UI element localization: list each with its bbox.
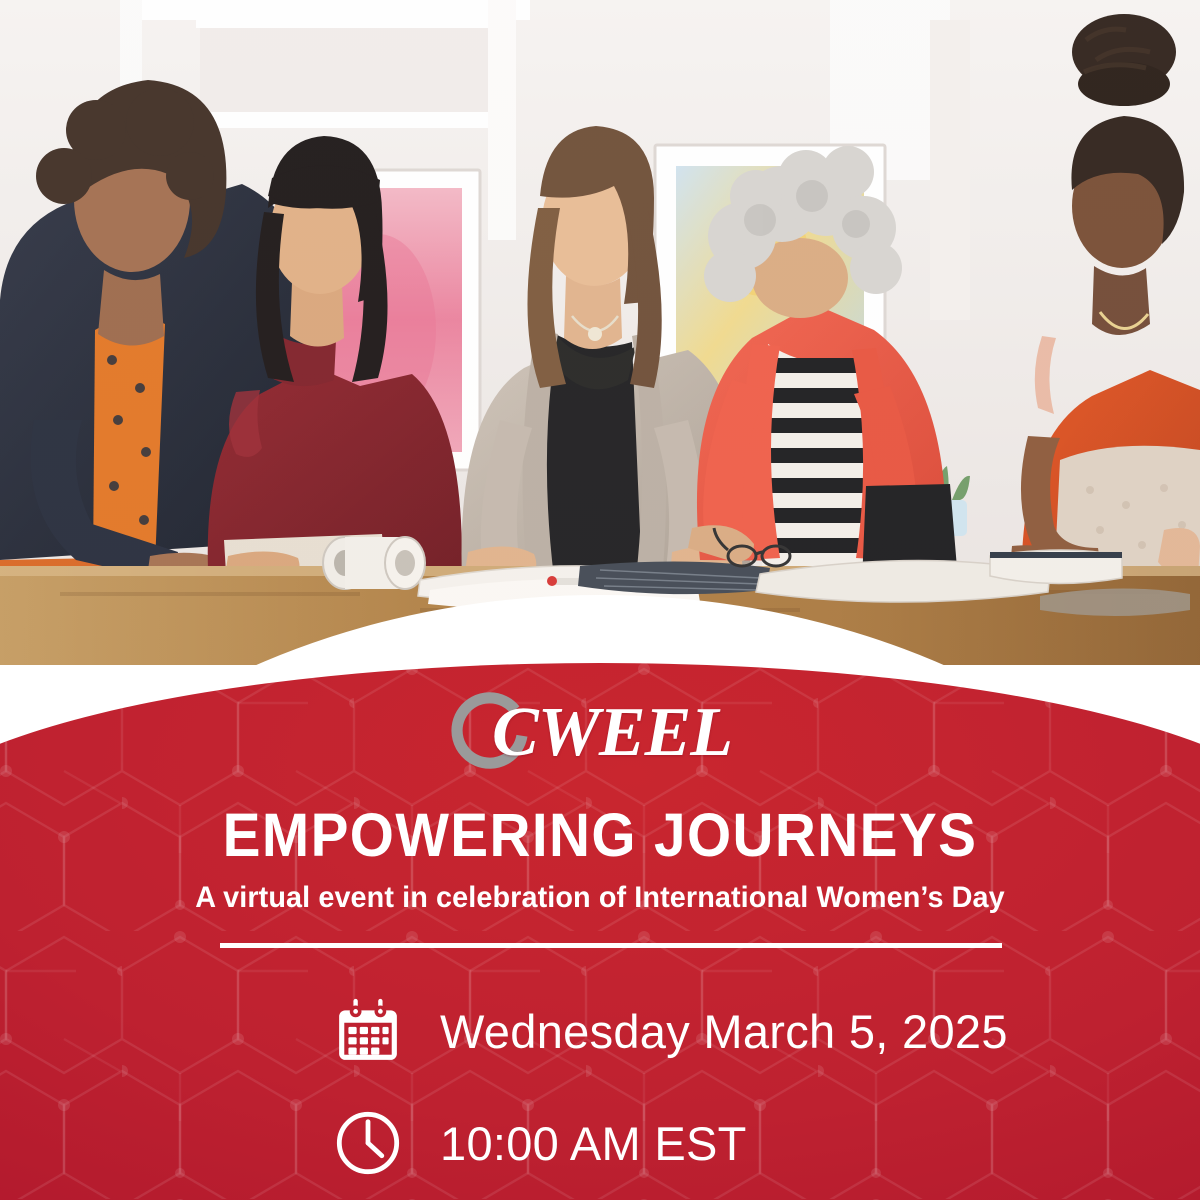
hero-photo-illustration [0,0,1200,665]
event-details: Wednesday March 5, 2025 10:00 AM EST [330,975,1090,1199]
event-date-value: Wednesday March 5, 2025 [440,1004,1008,1059]
event-time-value: 10:00 AM EST [440,1116,747,1171]
detail-row-date: Wednesday March 5, 2025 [330,975,1090,1087]
logo-wordmark: CWEEL [492,691,760,775]
event-poster: Five women of diverse backgrounds standi… [0,0,1200,1200]
panel-content: CWEEL EMPOWERING JOURNEYS A virtual even… [0,663,1200,1200]
brand-logo[interactable]: CWEEL [0,685,1200,781]
red-info-panel: CWEEL EMPOWERING JOURNEYS A virtual even… [0,663,1200,1200]
clock-icon [330,1109,406,1177]
calendar-icon [330,998,406,1064]
event-subheadline: A virtual event in celebration of Intern… [24,881,1176,915]
divider-rule [220,943,1002,948]
event-headline: EMPOWERING JOURNEYS [42,803,1158,867]
hero-photo: Five women of diverse backgrounds standi… [0,0,1200,665]
detail-row-time: 10:00 AM EST [330,1087,1090,1199]
